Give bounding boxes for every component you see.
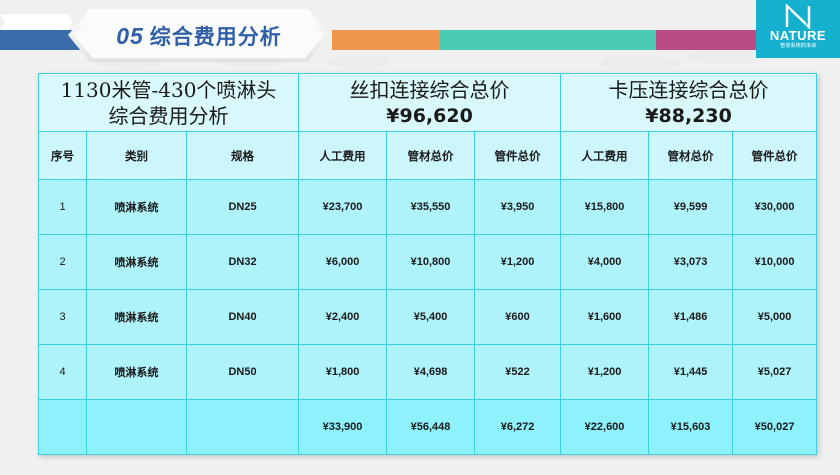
column-header-index: 序号: [39, 132, 87, 180]
group-header-threaded: 丝扣连接综合总价 ¥96,620: [299, 74, 561, 132]
total-press-fitting: ¥50,027: [733, 400, 817, 455]
table-total-row: ¥33,900 ¥56,448 ¥6,272 ¥22,600 ¥15,603 ¥…: [39, 400, 817, 455]
cell-threaded-fitting: ¥1,200: [475, 235, 561, 290]
cell-threaded-pipe: ¥4,698: [387, 345, 475, 400]
cell-press-labor: ¥15,800: [561, 180, 649, 235]
cell-spec: DN40: [187, 290, 299, 345]
cell-threaded-pipe: ¥35,550: [387, 180, 475, 235]
table-column-header-row: 序号 类别 规格 人工费用 管材总价 管件总价 人工费用 管材总价 管件总价: [39, 132, 817, 180]
banner-bar-orange: [332, 30, 442, 50]
section-title-plate-inner: 05综合费用分析: [74, 13, 324, 58]
column-header-threaded-pipe: 管材总价: [387, 132, 475, 180]
cell-threaded-fitting: ¥522: [475, 345, 561, 400]
total-threaded-pipe: ¥56,448: [387, 400, 475, 455]
column-header-threaded-fitting: 管件总价: [475, 132, 561, 180]
cell-spec: DN25: [187, 180, 299, 235]
cell-press-labor: ¥4,000: [561, 235, 649, 290]
cell-press-labor: ¥1,200: [561, 345, 649, 400]
banner-bar-purple: [656, 30, 766, 50]
table-title-cell: 1130米管-430个喷淋头 综合费用分析: [39, 74, 299, 132]
brand-logo: NATURE 管道系统的未来: [756, 0, 840, 58]
total-threaded-fitting: ¥6,272: [475, 400, 561, 455]
table-row: 4 喷淋系统 DN50 ¥1,800 ¥4,698 ¥522 ¥1,200 ¥1…: [39, 345, 817, 400]
cell-threaded-fitting: ¥3,950: [475, 180, 561, 235]
cell-press-fitting: ¥30,000: [733, 180, 817, 235]
table-row: 2 喷淋系统 DN32 ¥6,000 ¥10,800 ¥1,200 ¥4,000…: [39, 235, 817, 290]
total-cell-index: [39, 400, 87, 455]
group-header-press-label: 卡压连接综合总价: [562, 77, 815, 103]
cell-press-pipe: ¥1,486: [649, 290, 733, 345]
cell-threaded-fitting: ¥600: [475, 290, 561, 345]
cost-analysis-table: 1130米管-430个喷淋头 综合费用分析 丝扣连接综合总价 ¥96,620 卡…: [38, 73, 817, 455]
cell-spec: DN50: [187, 345, 299, 400]
logo-wordmark: NATURE: [770, 29, 826, 43]
page-title: 05综合费用分析: [116, 21, 282, 51]
cost-table-container: 1130米管-430个喷淋头 综合费用分析 丝扣连接综合总价 ¥96,620 卡…: [38, 73, 816, 455]
section-number: 05: [116, 23, 144, 49]
total-press-pipe: ¥15,603: [649, 400, 733, 455]
cell-press-pipe: ¥1,445: [649, 345, 733, 400]
column-header-press-fitting: 管件总价: [733, 132, 817, 180]
column-header-spec: 规格: [187, 132, 299, 180]
total-cell-category: [87, 400, 187, 455]
logo-n-icon: [783, 3, 813, 29]
table-title-row: 1130米管-430个喷淋头 综合费用分析 丝扣连接综合总价 ¥96,620 卡…: [39, 74, 817, 132]
logo-tagline: 管道系统的未来: [780, 43, 817, 50]
table-title-line2: 综合费用分析: [40, 103, 297, 129]
section-title-label: 综合费用分析: [150, 25, 282, 49]
column-header-press-pipe: 管材总价: [649, 132, 733, 180]
cell-category: 喷淋系统: [87, 180, 187, 235]
cell-index: 1: [39, 180, 87, 235]
cell-threaded-labor: ¥6,000: [299, 235, 387, 290]
total-cell-spec: [187, 400, 299, 455]
banner-left-arrow-icon: [0, 14, 72, 30]
cell-category: 喷淋系统: [87, 345, 187, 400]
total-threaded-labor: ¥33,900: [299, 400, 387, 455]
table-row: 1 喷淋系统 DN25 ¥23,700 ¥35,550 ¥3,950 ¥15,8…: [39, 180, 817, 235]
cell-threaded-pipe: ¥10,800: [387, 235, 475, 290]
slide-canvas: 05综合费用分析 NATURE 管道系统的未来: [0, 0, 840, 475]
banner-bar-teal: [440, 30, 658, 50]
cell-press-pipe: ¥9,599: [649, 180, 733, 235]
column-header-threaded-labor: 人工费用: [299, 132, 387, 180]
column-header-category: 类别: [87, 132, 187, 180]
cell-threaded-labor: ¥23,700: [299, 180, 387, 235]
group-header-threaded-label: 丝扣连接综合总价: [300, 77, 559, 103]
cell-threaded-labor: ¥1,800: [299, 345, 387, 400]
cell-index: 4: [39, 345, 87, 400]
table-title-line1: 1130米管-430个喷淋头: [40, 77, 297, 103]
group-header-threaded-amount: ¥96,620: [300, 103, 559, 129]
cell-spec: DN32: [187, 235, 299, 290]
table-row: 3 喷淋系统 DN40 ¥2,400 ¥5,400 ¥600 ¥1,600 ¥1…: [39, 290, 817, 345]
cell-threaded-labor: ¥2,400: [299, 290, 387, 345]
group-header-press: 卡压连接综合总价 ¥88,230: [561, 74, 817, 132]
cell-press-labor: ¥1,600: [561, 290, 649, 345]
total-press-labor: ¥22,600: [561, 400, 649, 455]
cell-press-pipe: ¥3,073: [649, 235, 733, 290]
cell-press-fitting: ¥10,000: [733, 235, 817, 290]
cell-category: 喷淋系统: [87, 290, 187, 345]
cell-press-fitting: ¥5,000: [733, 290, 817, 345]
cell-index: 2: [39, 235, 87, 290]
cell-index: 3: [39, 290, 87, 345]
cell-press-fitting: ¥5,027: [733, 345, 817, 400]
cell-category: 喷淋系统: [87, 235, 187, 290]
cell-threaded-pipe: ¥5,400: [387, 290, 475, 345]
column-header-press-labor: 人工费用: [561, 132, 649, 180]
group-header-press-amount: ¥88,230: [562, 103, 815, 129]
